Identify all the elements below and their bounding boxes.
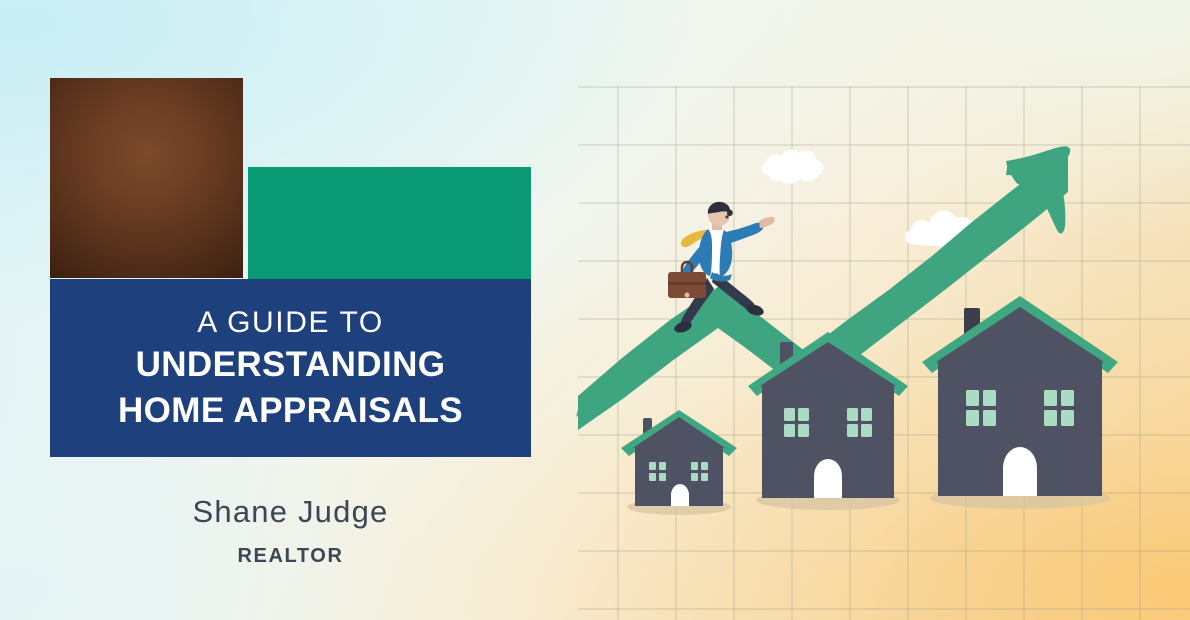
large-house-icon: [912, 282, 1127, 510]
medium-house-icon: [740, 320, 915, 510]
agent-role: REALTOR: [50, 545, 531, 568]
headline-line-2: UNDERSTANDING: [136, 343, 446, 386]
green-accent-block: [248, 167, 531, 279]
agent-headshot-photo: [50, 78, 243, 278]
running-businessman-icon: [660, 200, 790, 340]
real-estate-growth-illustration: [560, 0, 1190, 620]
agent-name: Shane Judge: [50, 494, 531, 530]
headline-line-1: A GUIDE TO: [197, 304, 384, 342]
headline-line-3: HOME APPRAISALS: [118, 389, 463, 432]
small-house-icon: [615, 400, 745, 520]
headshot-background: [50, 78, 243, 278]
poster-canvas: A GUIDE TO UNDERSTANDING HOME APPRAISALS…: [0, 0, 1190, 620]
headline-text-group: A GUIDE TO UNDERSTANDING HOME APPRAISALS: [50, 279, 531, 457]
